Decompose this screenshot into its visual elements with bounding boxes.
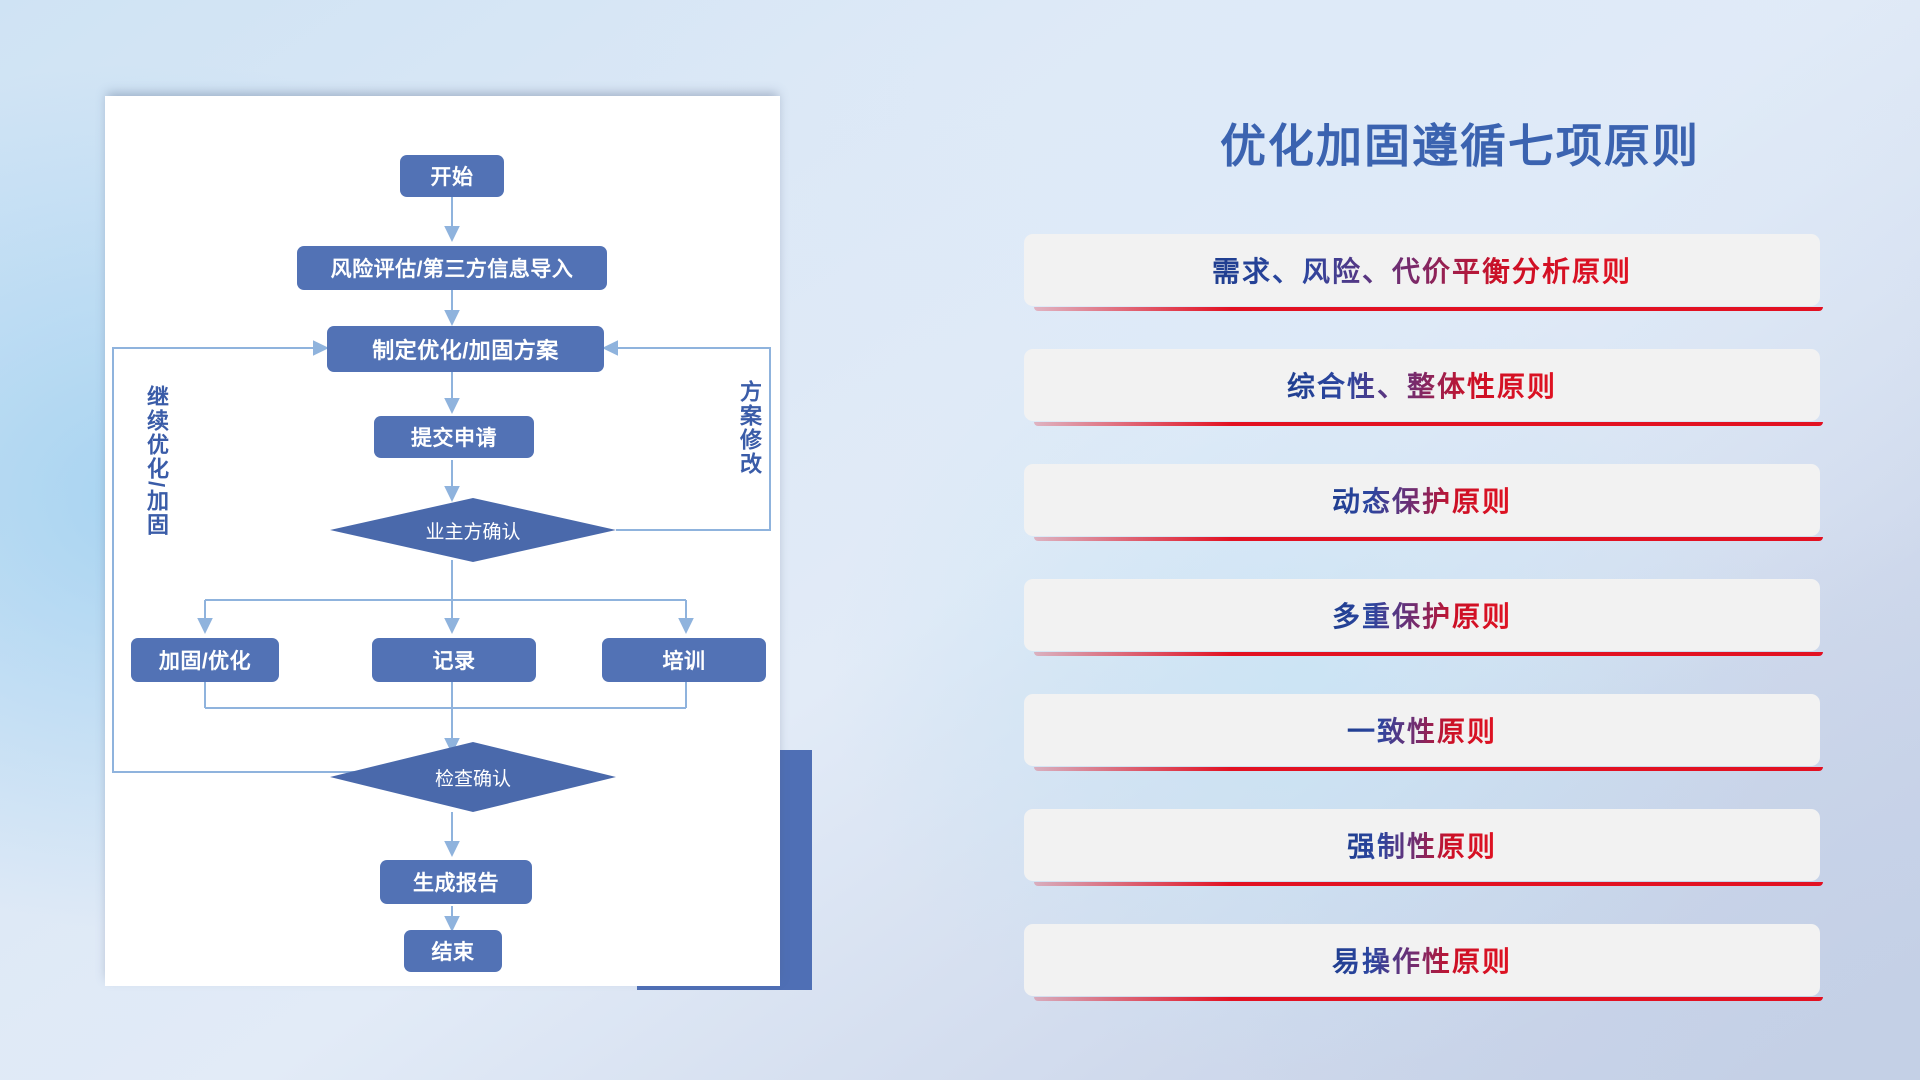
- principle-label: 一致性原则: [1347, 710, 1497, 750]
- flow-node-label: 提交申请: [411, 422, 497, 452]
- flow-node-label: 加固/优化: [159, 645, 251, 675]
- principle-label: 动态保护原则: [1332, 480, 1512, 520]
- flow-node-label: 结束: [432, 936, 475, 966]
- flow-node-end[interactable]: 结束: [404, 930, 502, 972]
- flow-node-reinforce[interactable]: 加固/优化: [131, 638, 279, 682]
- flow-decision-label: 业主方确认: [425, 517, 520, 544]
- flow-decision-label: 检查确认: [435, 764, 511, 791]
- principle-card[interactable]: 综合性、整体性原则: [1022, 347, 1822, 423]
- flow-node-label: 记录: [433, 645, 476, 675]
- principle-label: 强制性原则: [1347, 825, 1497, 865]
- flow-node-submit-application[interactable]: 提交申请: [374, 416, 534, 458]
- principle-card[interactable]: 一致性原则: [1022, 692, 1822, 768]
- slide-canvas: 开始 风险评估/第三方信息导入 制定优化/加固方案 提交申请 业主方确认 加固/…: [0, 0, 1920, 1080]
- principle-card[interactable]: 易操作性原则: [1022, 922, 1822, 998]
- principle-card[interactable]: 动态保护原则: [1022, 462, 1822, 538]
- flow-edge-label-right: 方案修改: [733, 380, 765, 476]
- flow-node-label: 制定优化/加固方案: [372, 333, 559, 365]
- principles-list: 需求、风险、代价平衡分析原则 综合性、整体性原则 动态保护原则 多重保护原则 一…: [1022, 232, 1822, 1037]
- flow-node-training[interactable]: 培训: [602, 638, 766, 682]
- flow-node-record[interactable]: 记录: [372, 638, 536, 682]
- principle-card[interactable]: 多重保护原则: [1022, 577, 1822, 653]
- flow-node-label: 风险评估/第三方信息导入: [331, 253, 574, 283]
- principle-label: 需求、风险、代价平衡分析原则: [1212, 250, 1632, 290]
- principle-label: 多重保护原则: [1332, 595, 1512, 635]
- flow-node-label: 培训: [663, 645, 706, 675]
- principle-label: 综合性、整体性原则: [1287, 365, 1557, 405]
- flow-node-label: 生成报告: [413, 867, 499, 897]
- principle-card[interactable]: 需求、风险、代价平衡分析原则: [1022, 232, 1822, 308]
- flow-node-generate-report[interactable]: 生成报告: [380, 860, 532, 904]
- principles-title: 优化加固遵循七项原则: [1150, 110, 1770, 176]
- flow-node-plan[interactable]: 制定优化/加固方案: [327, 326, 604, 372]
- flow-node-start[interactable]: 开始: [400, 155, 504, 197]
- flow-node-label: 开始: [431, 161, 474, 191]
- principle-label: 易操作性原则: [1332, 940, 1512, 980]
- principle-card[interactable]: 强制性原则: [1022, 807, 1822, 883]
- flow-node-risk-assessment[interactable]: 风险评估/第三方信息导入: [297, 246, 607, 290]
- flow-edge-label-left: 继续优化/加固: [140, 385, 172, 537]
